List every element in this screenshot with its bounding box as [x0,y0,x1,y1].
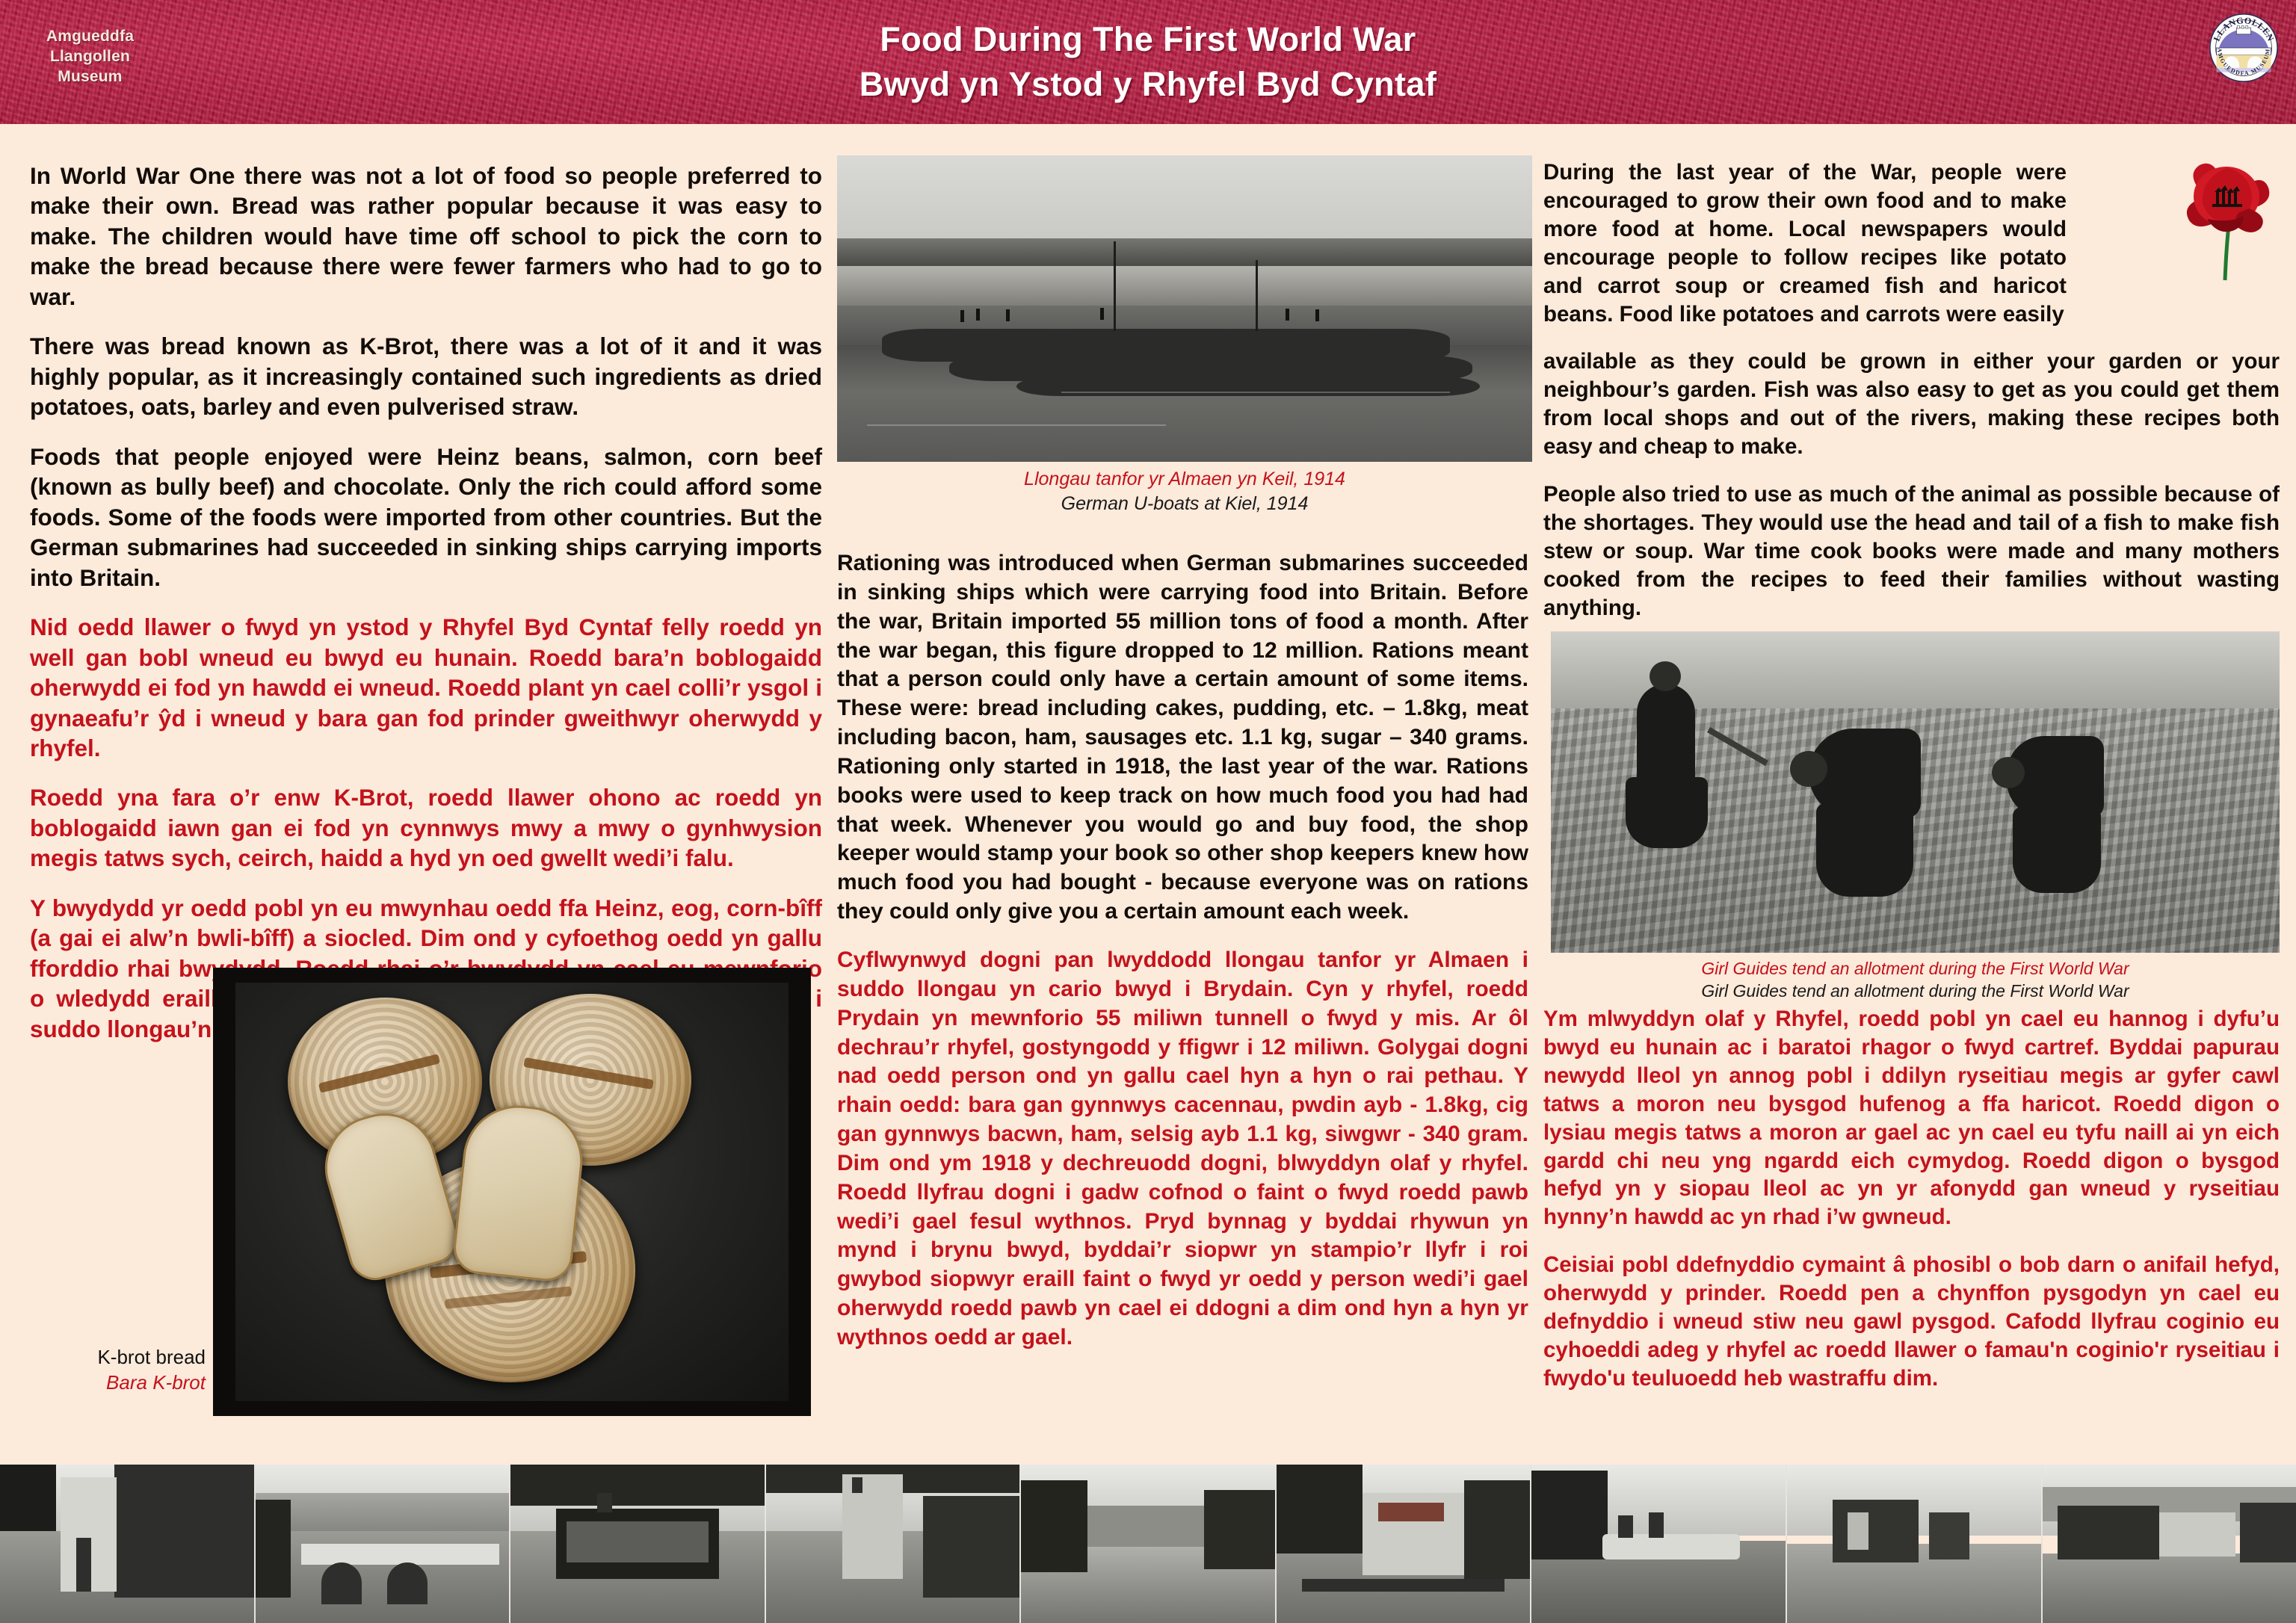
page-title-english: Food During The First World War [880,17,1416,62]
col3-english-para-1: During the last year of the War, people … [1543,158,2067,328]
poppy-icon [2171,153,2283,288]
water-glint-2 [1061,392,1450,393]
llangollen-museum-logo: LLANGOLLEN AMGUEDDFA MUSEUM [2208,12,2280,84]
uboat-mast-1 [1114,241,1116,331]
footer-photo-6 [1277,1465,1532,1623]
page-title: Food During The First World War Bwyd yn … [0,0,2296,124]
column-two: Rationing was introduced when German sub… [837,549,1528,1372]
col1-english-para-1: In World War One there was not a lot of … [30,161,822,312]
dock-figure-5 [1286,309,1289,321]
footer-photo-4 [766,1465,1022,1623]
guides-caption-english: Girl Guides tend an allotment during the… [1551,980,2280,1003]
col3-english-para-2: available as they could be grown in eith… [1543,347,2280,461]
guides-caption-welsh: Girl Guides tend an allotment during the… [1551,958,2280,980]
column-three: During the last year of the War, people … [1543,158,2280,642]
footer-photo-7 [1531,1465,1787,1623]
footer-photo-8 [1787,1465,2043,1623]
col3-welsh-para-2: Ceisiai pobl ddefnyddio cymaint â phosib… [1543,1251,2280,1393]
girl-guide-centre-skirt [1816,803,1913,897]
footer-photo-2 [256,1465,511,1623]
page-header: Amgueddfa Llangollen Museum Food During … [0,0,2296,124]
water-glint-1 [867,424,1166,426]
column-one: In World War One there was not a lot of … [30,161,822,1063]
uboat-caption-english: German U-boats at Kiel, 1914 [837,492,1532,516]
uboat-photo-caption: Llongau tanfor yr Almaen yn Keil, 1914 G… [837,467,1532,516]
dock-figure-6 [1315,309,1319,321]
girl-guide-left-head [1650,661,1681,691]
girl-guide-right-skirt [2013,807,2101,893]
footer-photo-9 [2043,1465,2296,1623]
german-uboats-photo [837,155,1532,462]
uboat-far-shore [837,238,1532,266]
bread-caption-english: K-brot bread [45,1345,206,1370]
col3-english-para-3: People also tried to use as much of the … [1543,480,2280,622]
col2-welsh-para-1: Cyflwynwyd dogni pan lwyddodd llongau ta… [837,946,1528,1352]
col1-welsh-para-1: Nid oedd llawer o fwyd yn ystod y Rhyfel… [30,612,822,763]
girl-guide-right-head [1992,757,2025,788]
col2-english-para-1: Rationing was introduced when German sub… [837,549,1528,927]
page-title-welsh: Bwyd yn Ystod y Rhyfel Byd Cyntaf [860,62,1437,107]
uboat-caption-welsh: Llongau tanfor yr Almaen yn Keil, 1914 [837,467,1532,492]
girl-guide-left-body [1637,684,1695,781]
guides-photo-caption: Girl Guides tend an allotment during the… [1551,958,2280,1003]
col1-english-para-3: Foods that people enjoyed were Heinz bea… [30,442,822,593]
col3-welsh-para-1: Ym mlwyddyn olaf y Rhyfel, roedd pobl yn… [1543,1005,2280,1231]
col1-welsh-para-2: Roedd yna fara o’r enw K-Brot, roedd lla… [30,782,822,873]
column-three-welsh: Ym mlwyddyn olaf y Rhyfel, roedd pobl yn… [1543,1005,2280,1409]
dock-figure-1 [960,310,964,322]
dock-figure-2 [976,309,980,321]
historic-photo-strip [0,1465,2296,1623]
bread-photo-caption: K-brot bread Bara K-brot [45,1345,206,1396]
uboat-mast-2 [1256,260,1258,331]
girl-guide-left-skirt [1626,777,1708,848]
dock-figure-4 [1100,308,1104,320]
submarine-3 [1016,377,1480,396]
footer-photo-5 [1021,1465,1277,1623]
uboat-quay [837,266,1532,306]
footer-photo-1 [0,1465,256,1623]
k-brot-bread-photo [213,968,811,1416]
col1-english-para-2: There was bread known as K-Brot, there w… [30,331,822,421]
footer-photo-3 [510,1465,766,1623]
dock-figure-3 [1006,309,1010,321]
girl-guide-centre-head [1790,751,1827,787]
girl-guides-allotment-photo [1551,631,2280,953]
bread-caption-welsh: Bara K-brot [45,1370,206,1396]
